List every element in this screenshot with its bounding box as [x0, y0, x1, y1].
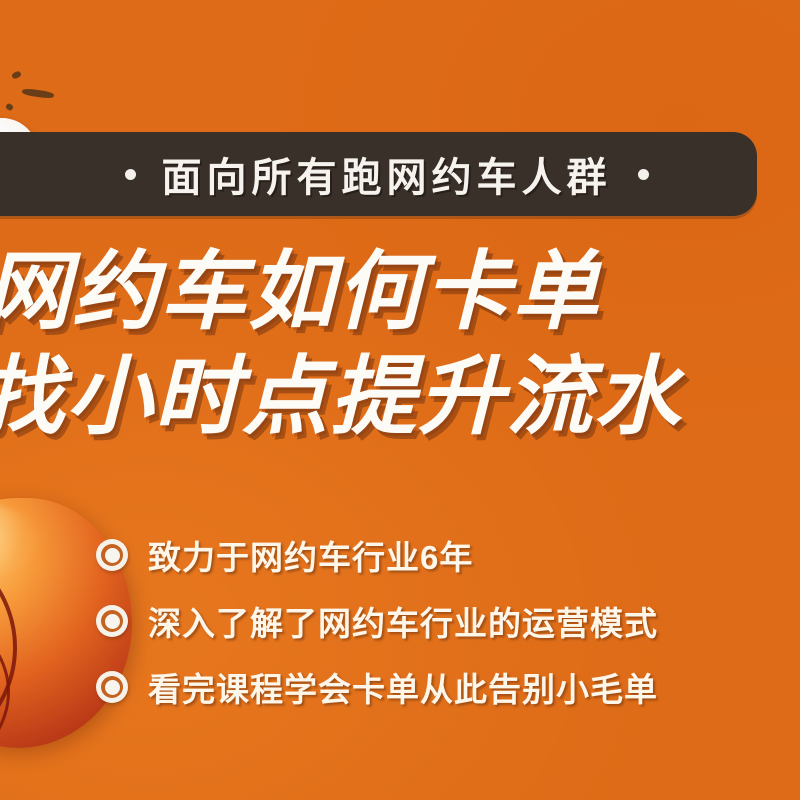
headline-line-1: 网约车如何卡单	[0, 240, 800, 345]
banner-left-dot-icon	[125, 169, 136, 180]
ring-bullet-icon	[96, 671, 128, 703]
ring-bullet-icon	[96, 605, 128, 637]
list-item-label: 看完课程学会卡单从此告别小毛单	[148, 663, 658, 711]
list-item: 看完课程学会卡单从此告别小毛单	[96, 654, 796, 720]
banner-inner: 面向所有跑网约车人群	[0, 132, 757, 216]
page-title: 网约车如何卡单 找小时点提升流水	[0, 240, 800, 450]
headline-line-2: 找小时点提升流水	[0, 345, 800, 450]
motion-mark-icon	[22, 88, 55, 99]
headline-banner: 面向所有跑网约车人群	[0, 132, 757, 216]
motion-mark-icon	[11, 70, 22, 79]
list-item: 深入了解了网约车行业的运营模式	[96, 588, 796, 654]
motion-mark-icon	[5, 103, 14, 112]
list-item-label: 致力于网约车行业6年	[148, 531, 473, 579]
feature-list: 致力于网约车行业6年 深入了解了网约车行业的运营模式 看完课程学会卡单从此告别小…	[96, 522, 796, 720]
ring-bullet-icon	[96, 539, 128, 571]
basketball-highlight	[0, 504, 40, 578]
banner-right-dot-icon	[638, 169, 649, 180]
banner-text: 面向所有跑网约车人群	[162, 145, 612, 203]
list-item-label: 深入了解了网约车行业的运营模式	[148, 597, 658, 645]
promo-poster: 面向所有跑网约车人群 网约车如何卡单 找小时点提升流水 致力于网约车行业6年 深…	[0, 0, 800, 800]
list-item: 致力于网约车行业6年	[96, 522, 796, 588]
